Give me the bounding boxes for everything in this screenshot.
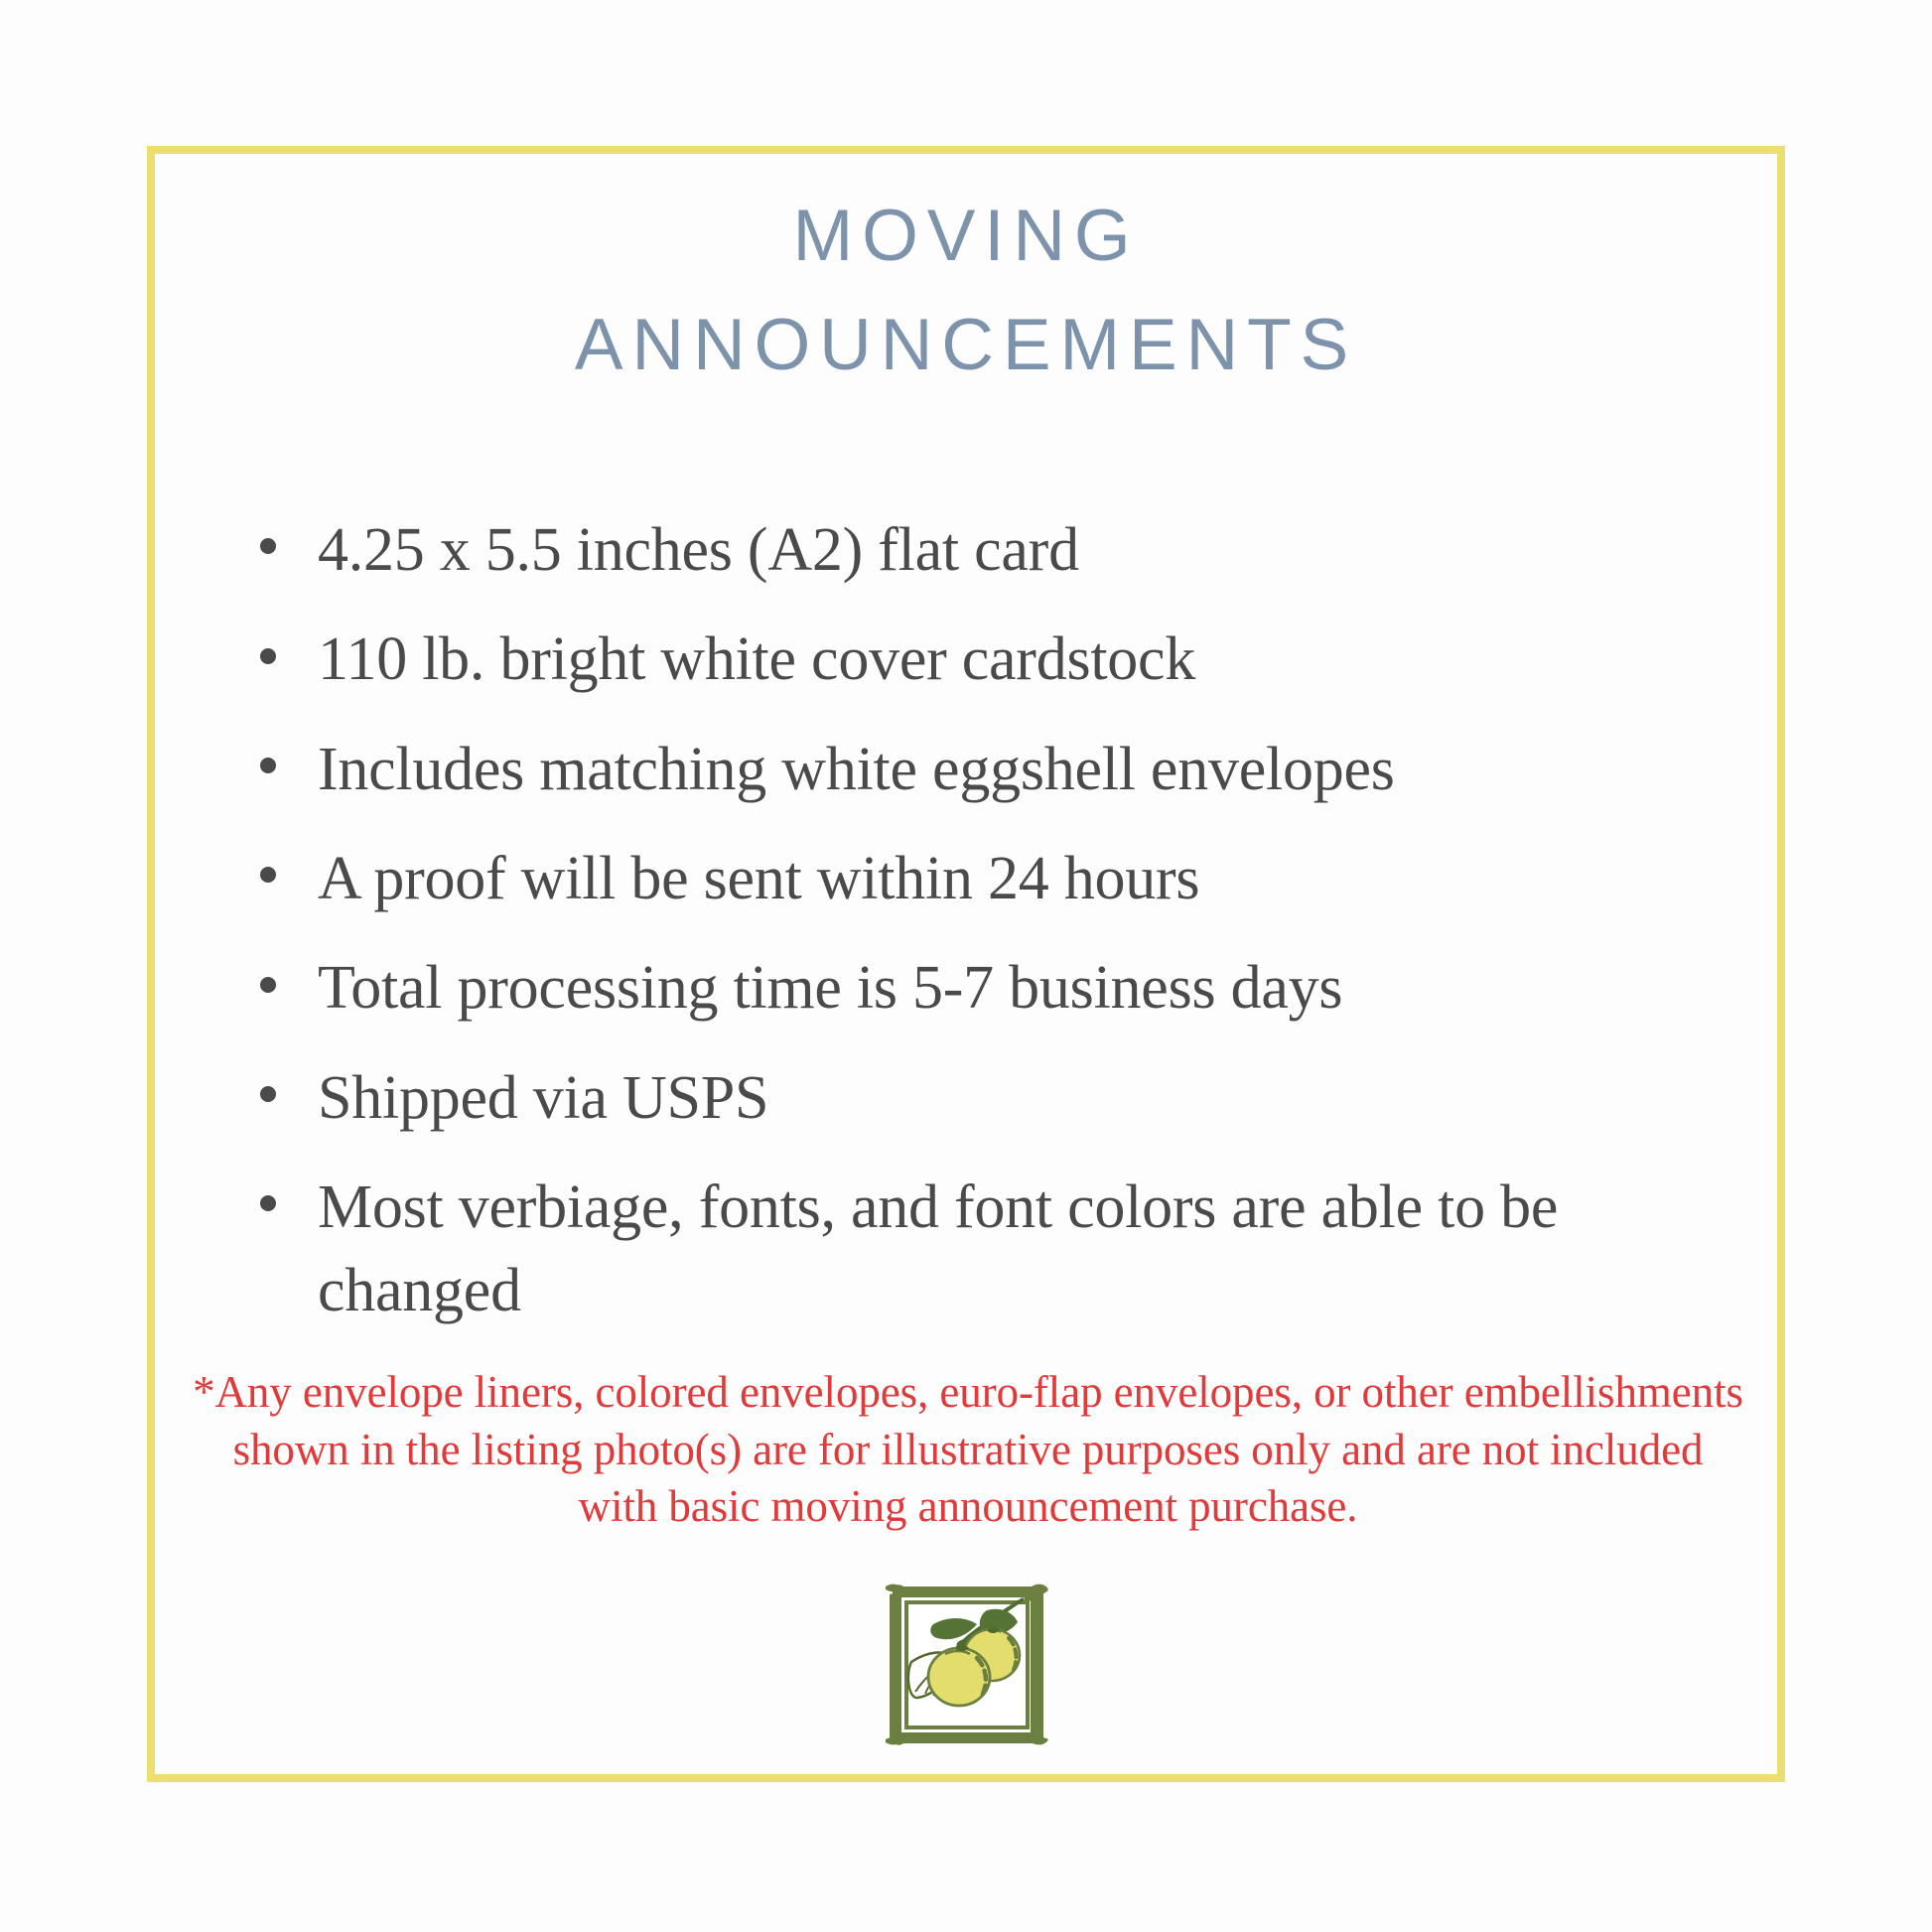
bullet-dot-icon — [260, 538, 276, 554]
list-item: 4.25 x 5.5 inches (A2) flat card — [250, 508, 1720, 592]
bullet-dot-icon — [260, 867, 276, 883]
feature-list: 4.25 x 5.5 inches (A2) flat card 110 lb.… — [250, 508, 1720, 1359]
bullet-dot-icon — [260, 977, 276, 993]
list-item: Most verbiage, fonts, and font colors ar… — [250, 1166, 1720, 1333]
list-item-label: A proof will be sent within 24 hours — [318, 845, 1199, 912]
title-line-moving: Moving — [169, 171, 1763, 280]
product-info-card: Moving Announcements 4.25 x 5.5 inches (… — [0, 0, 1932, 1932]
bullet-dot-icon — [260, 648, 276, 664]
list-item-label: Includes matching white eggshell envelop… — [318, 736, 1395, 803]
title-line-announcements: Announcements — [169, 280, 1763, 389]
list-item: A proof will be sent within 24 hours — [250, 837, 1720, 920]
bullet-dot-icon — [260, 758, 276, 773]
list-item-label: Shipped via USPS — [318, 1064, 768, 1132]
list-item: Shipped via USPS — [250, 1056, 1720, 1140]
list-item-label: Total processing time is 5-7 business da… — [318, 954, 1342, 1022]
list-item-label: Most verbiage, fonts, and font colors ar… — [318, 1173, 1558, 1324]
page-title: Moving Announcements — [169, 171, 1763, 389]
list-item: Includes matching white eggshell envelop… — [250, 728, 1720, 811]
disclaimer-text: *Any envelope liners, colored envelopes,… — [189, 1364, 1747, 1536]
list-item-label: 110 lb. bright white cover cardstock — [318, 625, 1195, 693]
list-item-label: 4.25 x 5.5 inches (A2) flat card — [318, 516, 1079, 584]
list-item: Total processing time is 5-7 business da… — [250, 946, 1720, 1030]
lemon-branch-logo-icon — [882, 1581, 1052, 1751]
bullet-dot-icon — [260, 1086, 276, 1102]
bullet-dot-icon — [260, 1195, 276, 1211]
list-item: 110 lb. bright white cover cardstock — [250, 618, 1720, 701]
